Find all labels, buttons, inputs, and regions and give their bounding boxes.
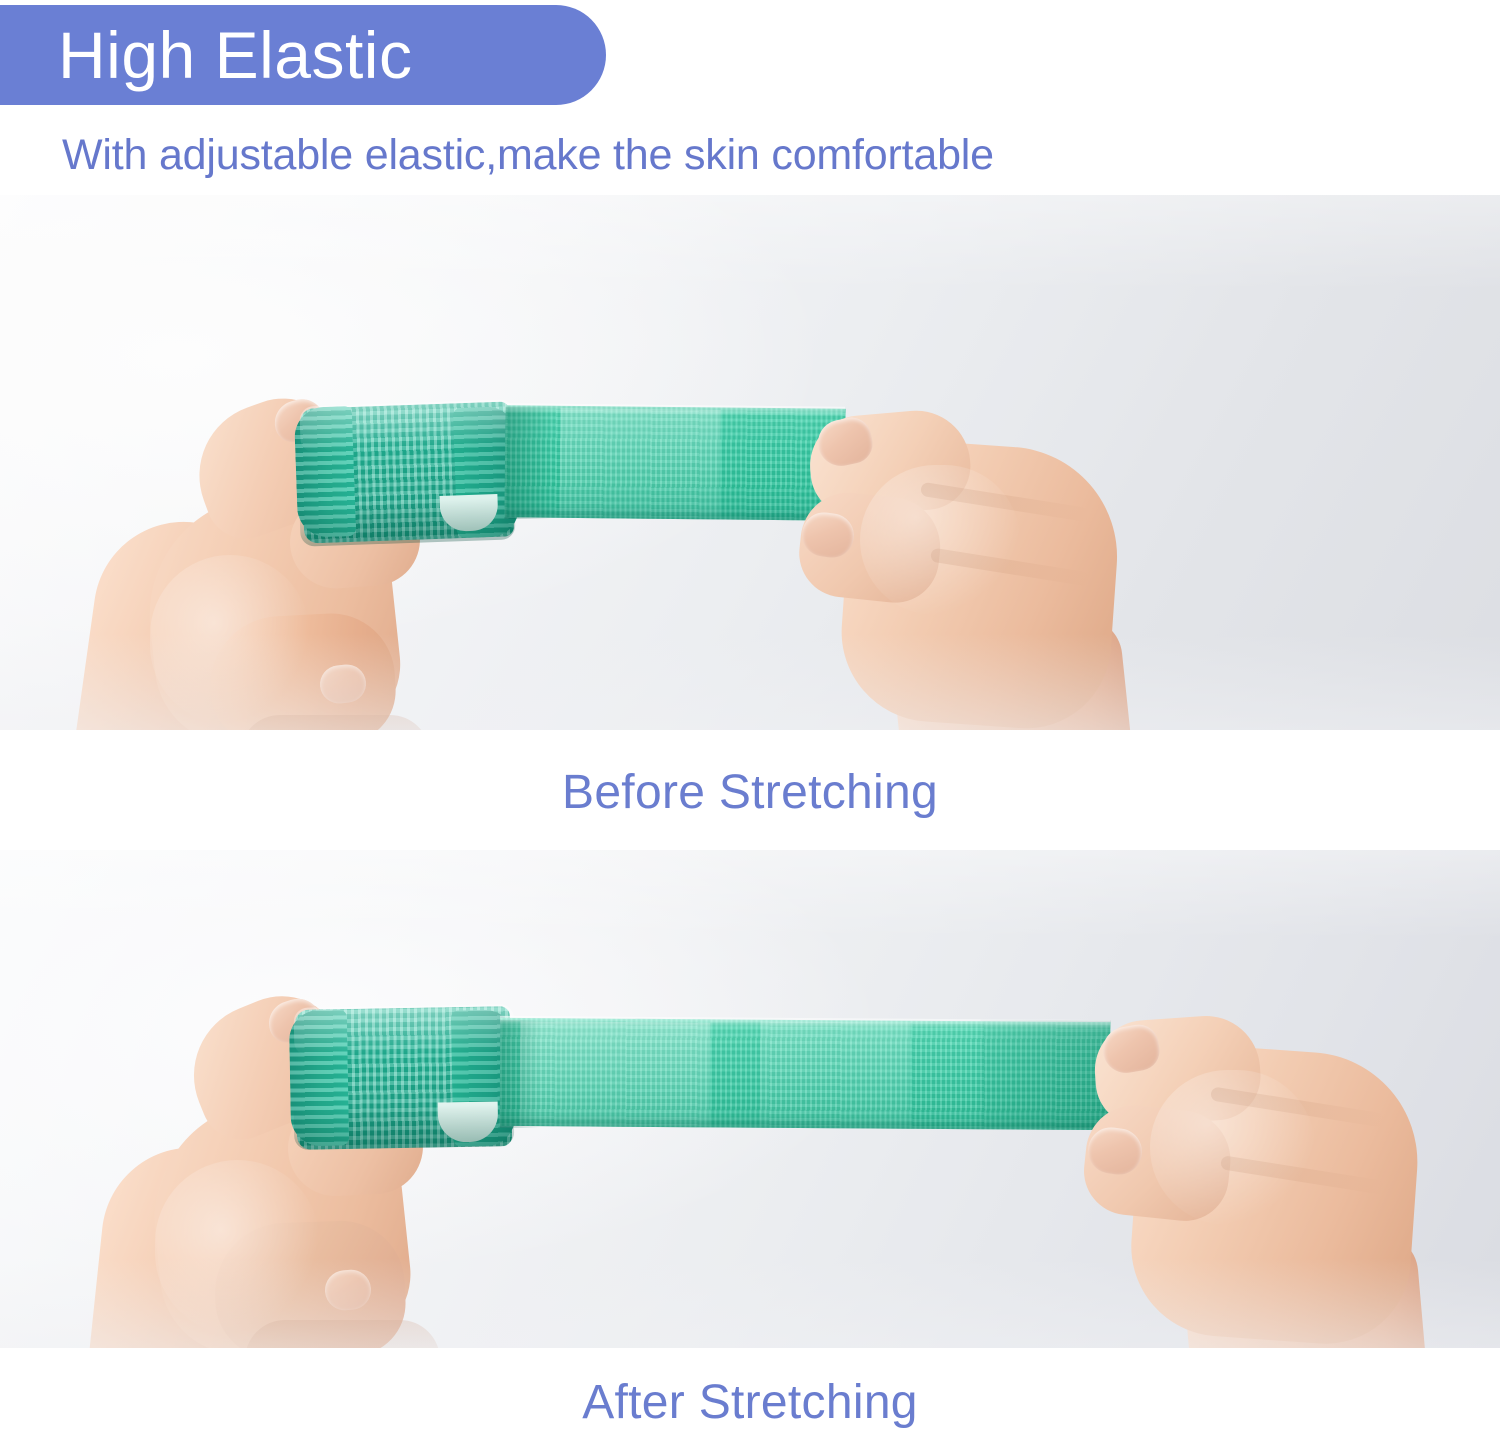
- photo-before-stretching: [0, 195, 1500, 730]
- caption-after-stretching: After Stretching: [0, 1375, 1500, 1430]
- photo-after-stretching: [0, 850, 1500, 1348]
- header-subtitle: With adjustable elastic,make the skin co…: [62, 131, 994, 180]
- caption-before-stretching: Before Stretching: [0, 765, 1500, 820]
- high-elastic-badge: High Elastic: [0, 5, 606, 105]
- header-banner: High Elastic With adjustable elastic,mak…: [0, 0, 1500, 195]
- badge-label: High Elastic: [0, 22, 412, 88]
